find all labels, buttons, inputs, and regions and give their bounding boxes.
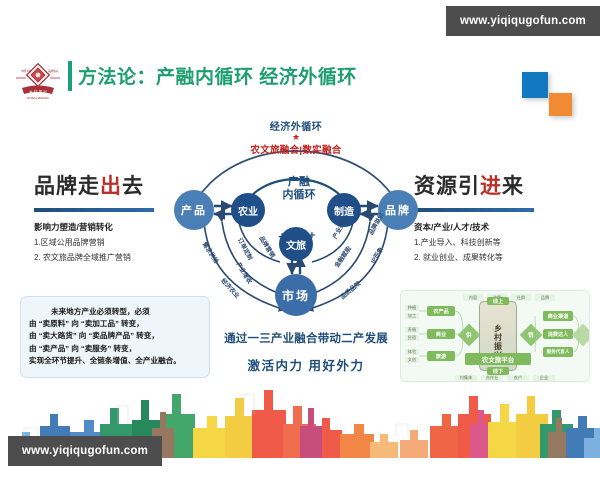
svg-text:RURAL BRAND: RURAL BRAND (27, 96, 49, 100)
watermark-bottom: www.yiqiqugofun.com (8, 436, 162, 466)
right-heading-highlight: 进 (480, 175, 502, 198)
right-panel: 资源引进来 资本/产业/人才/技术 1.产业导入、科技创新等 2. 就业创业、成… (414, 170, 589, 263)
left-tick-2: 加工 (405, 313, 419, 319)
sell-label: 销 (528, 331, 534, 339)
svg-text:乡 村 振 兴: 乡 村 振 兴 (29, 89, 47, 94)
top-tick-4: 品牌 (535, 294, 555, 301)
outer-cycle-sublabel: 农文旅融合|数实融合 (170, 142, 422, 156)
note-line-1: 未来地方产业必须转型，必须 (29, 306, 201, 318)
supply-label: 供 (466, 331, 472, 339)
right-panel-item-1: 1.产业导入、科技创新等 (414, 237, 589, 248)
inner-cycle-label-line1: 产融 (270, 176, 328, 189)
left-tick-4: 民宿 (405, 335, 419, 341)
slide-canvas: www.yiqiqugofun.com 乡 村 振 兴 RURAL BRAND … (0, 0, 600, 480)
center-claim-line1: 通过一三产业融合带动二产发展 (208, 330, 404, 346)
inner-cycle-label-line2: 内循环 (270, 189, 328, 202)
right-node-2: 消费达人 (543, 329, 573, 339)
watermark-top: www.yiqiqugofun.com (446, 6, 600, 36)
right-panel-subtitle: 资本/产业/人才/技术 (414, 221, 589, 233)
note-line-3: 由 “卖大路货” 向 “卖品牌产品” 转变， (29, 330, 201, 342)
online-label: 线上 (487, 297, 509, 305)
left-heading-highlight: 出 (100, 175, 122, 198)
decorative-square-orange (549, 93, 572, 116)
platform-label: 农文旅平台 (465, 353, 531, 365)
output-diamond (572, 324, 590, 347)
left-node-1: 农产品 (427, 306, 455, 316)
right-node-3: 服务代言人 (543, 347, 573, 357)
emblem-logo-icon: 乡 村 振 兴 RURAL BRAND 中国乡村 品牌振兴 (12, 58, 64, 102)
right-panel-item-2: 2. 就业创业、成果转化等 (414, 252, 589, 263)
right-panel-heading: 资源引进来 (414, 170, 589, 200)
top-tick-3: 社群 (511, 294, 531, 301)
offline-label: 线下 (487, 367, 509, 375)
note-line-5: 实现全环节提升、全链条增值、全产业融合。 (29, 355, 201, 367)
note-line-2: 由 “卖原料” 向 “卖加工品” 转变， (29, 318, 201, 330)
left-node-2: 商业 (427, 329, 455, 339)
left-heading-plain: 品牌走 (34, 175, 100, 198)
decorative-square-blue (522, 72, 548, 98)
inner-cycle-label: 产融 内循环 (270, 176, 328, 202)
transformation-note-card: 未来地方产业必须转型，必须 由 “卖原料” 向 “卖加工品” 转变， 由 “卖大… (20, 296, 210, 378)
title-accent-bar (68, 61, 72, 91)
left-node-3: 旅游 (427, 351, 455, 361)
left-panel-divider (34, 208, 154, 212)
right-node-1: 商业渠道 (543, 311, 573, 321)
circular-flow-diagram: + + 经济外循环 ★ 农文旅融合|数实融合 产融 内循环 产品 农业 制造 品… (170, 118, 422, 318)
svg-text:中国乡村: 中国乡村 (21, 69, 32, 73)
left-tick-5: 体验 (405, 349, 419, 355)
left-tick-6: 文创 (405, 357, 419, 363)
left-tick-1: 种植 (405, 305, 419, 311)
left-tick-3: 养殖 (405, 327, 419, 333)
note-line-4: 由 “卖产品” 向 “卖服务” 转变， (29, 343, 201, 355)
red-star-icon: ★ (170, 133, 422, 142)
svg-text:品牌振兴: 品牌振兴 (48, 69, 59, 73)
right-panel-divider (414, 208, 534, 212)
platform-diagram-card: 内容 流量 社群 品牌 种植 加工 养殖 民宿 体验 文创 农产品 商业 旅游 … (400, 290, 590, 382)
right-heading-tail: 来 (502, 175, 524, 198)
center-claim: 通过一三产业融合带动二产发展 激活内力 用好外力 (208, 330, 404, 374)
right-heading-plain: 资源引 (414, 175, 480, 198)
page-title: 方法论：产融内循环 经济外循环 (78, 62, 357, 89)
outer-cycle-label-group: 经济外循环 ★ 农文旅融合|数实融合 (170, 118, 422, 156)
center-claim-line2: 激活内力 用好外力 (208, 355, 404, 374)
left-heading-tail: 去 (122, 175, 144, 198)
outer-cycle-label: 经济外循环 (170, 118, 422, 133)
top-tick-1: 内容 (463, 294, 483, 301)
